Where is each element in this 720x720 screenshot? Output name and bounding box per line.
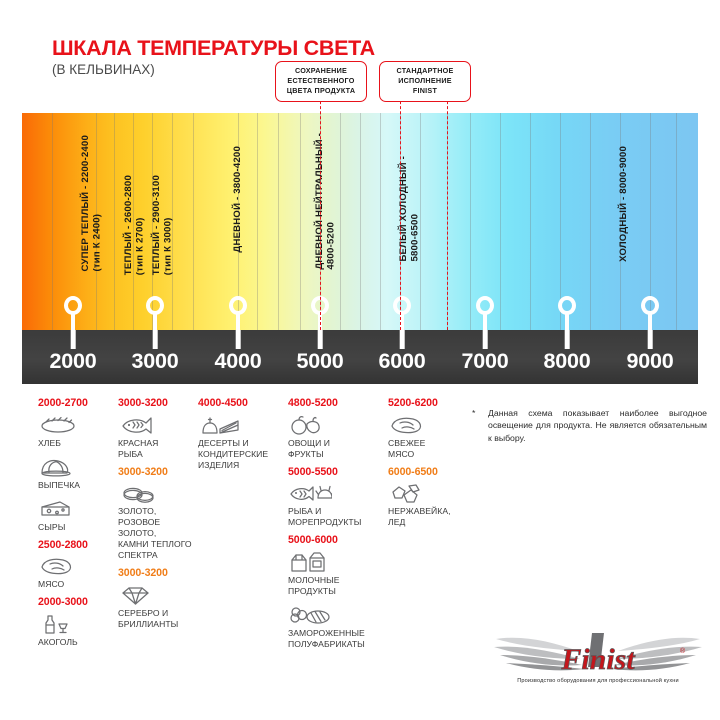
stainless-ice-icon xyxy=(388,482,432,504)
marker-ring xyxy=(229,296,247,315)
alcohol-bottle-glass-icon xyxy=(38,613,82,635)
registered-mark: ® xyxy=(680,647,686,655)
marker-ring xyxy=(476,296,494,315)
milk-cartons-icon xyxy=(288,551,386,573)
legend-group: 5200-6200 СВЕЖЕЕ МЯСО xyxy=(388,398,468,460)
fish-seafood-icon xyxy=(288,482,332,504)
band-divider xyxy=(380,113,381,330)
callout-natural-color: СОХРАНЕНИЕЕСТЕСТВЕННОГОЦВЕТА ПРОДУКТА xyxy=(275,61,367,102)
legend-group: 3000-3200 КРАСНАЯ РЫБА xyxy=(118,398,200,460)
legend-item-label: СЫРЫ xyxy=(38,522,118,533)
scale-marker-8000 xyxy=(558,296,576,330)
legend-range-label: 4000-4500 xyxy=(198,398,284,410)
legend-item-label: ЗАМОРОЖЕННЫЕ ПОЛУФАБРИКАТЫ xyxy=(288,628,386,650)
axis-tick-2000 xyxy=(71,330,76,349)
legend-item-label: РЫБА И МОРЕПРОДУКТЫ xyxy=(288,506,386,528)
axis-label-3000: 3000 xyxy=(131,349,178,374)
legend-item: МЯСО xyxy=(38,555,118,590)
legend-item: СЫРЫ xyxy=(38,498,118,533)
legend-item: РЫБА И МОРЕПРОДУКТЫ xyxy=(288,482,386,528)
legend-item-label: ВЫПЕЧКА xyxy=(38,480,118,491)
footnote-text: Данная схема показывает наиболее выгодно… xyxy=(488,407,707,444)
axis-tick-3000 xyxy=(153,330,158,349)
legend-item-label: ХЛЕБ xyxy=(38,438,118,449)
legend-item-label: ЗОЛОТО, РОЗОВОЕ ЗОЛОТО, КАМНИ ТЕПЛОГО СП… xyxy=(118,506,200,561)
band-divider xyxy=(52,113,53,330)
legend-group: 4800-5200 ОВОЩИ И ФРУКТЫ xyxy=(288,398,386,460)
color-temperature-gradient-bar: СУПЕР ТЕПЛЫЙ - 2200-2400(тип К 2400)ТЕПЛ… xyxy=(22,113,698,330)
band-label: ДНЕВНОЙ - 3800-4200 xyxy=(232,146,244,253)
callout-finist-standard: СТАНДАРТНОЕИСПОЛНЕНИЕFINIST xyxy=(379,61,471,102)
band-divider xyxy=(530,113,531,330)
legend-item: ДЕСЕРТЫ И КОНДИТЕРСКИЕ ИЗДЕЛИЯ xyxy=(198,414,284,471)
legend-item: КРАСНАЯ РЫБА xyxy=(118,414,200,460)
legend-column-2: 4000-4500 ДЕСЕРТЫ И КОНДИТЕРСКИЕ ИЗДЕЛИЯ xyxy=(198,398,284,478)
diamond-icon xyxy=(118,584,200,606)
dessert-cake-icon xyxy=(198,414,284,436)
legend-item-label: МОЛОЧНЫЕ ПРОДУКТЫ xyxy=(288,575,386,597)
legend-item-label: СВЕЖЕЕ МЯСО xyxy=(388,438,468,460)
footnote-marker: * xyxy=(472,407,475,419)
scale-marker-7000 xyxy=(476,296,494,330)
legend-item: ХЛЕБ xyxy=(38,414,118,449)
legend-range-label: 2000-3000 xyxy=(38,597,118,609)
bread-icon xyxy=(38,414,118,436)
page-title: ШКАЛА ТЕМПЕРАТУРЫ СВЕТА xyxy=(52,36,375,61)
legend-item: АКОГОЛЬ xyxy=(38,613,118,648)
legend-item-label: КРАСНАЯ РЫБА xyxy=(118,438,200,460)
band-divider xyxy=(590,113,591,330)
marker-ring xyxy=(641,296,659,315)
page-subtitle: (В КЕЛЬВИНАХ) xyxy=(52,62,155,77)
red-fish-icon xyxy=(118,414,200,436)
legend-item-label: МЯСО xyxy=(38,579,118,590)
legend-item: СЕРЕБРО И БРИЛЛИАНТЫ xyxy=(118,584,200,630)
band-divider xyxy=(257,113,258,330)
marker-ring xyxy=(64,296,82,315)
legend-column-3: 4800-5200 ОВОЩИ И ФРУКТЫ5000-5500 РЫБА И… xyxy=(288,398,386,657)
legend-item: ЗАМОРОЖЕННЫЕ ПОЛУФАБРИКАТЫ xyxy=(288,604,386,650)
legend-range-label: 5000-5500 xyxy=(288,467,386,479)
band-label: ТЕПЛЫЙ - 2900-3100(тип К 3000) xyxy=(151,175,174,275)
steak-icon xyxy=(38,555,82,577)
legend-range-label: 3000-3200 xyxy=(118,398,200,410)
legend-column-0: 2000-2700 ХЛЕБ ВЫПЕЧКА СЫРЫ2500-2800 МЯС… xyxy=(38,398,118,655)
pastry-icon xyxy=(38,456,118,478)
bread-icon xyxy=(38,414,82,436)
red-fish-icon xyxy=(118,414,162,436)
legend-item-label: АКОГОЛЬ xyxy=(38,637,118,648)
finist-logo: Finist ® Производство оборудования для п… xyxy=(492,627,704,697)
milk-cartons-icon xyxy=(288,551,332,573)
axis-tick-9000 xyxy=(648,330,653,349)
band-label: ХОЛОДНЫЙ - 8000-9000 xyxy=(618,146,630,262)
gold-rings-icon xyxy=(118,482,162,504)
cheese-icon xyxy=(38,498,118,520)
band-divider xyxy=(360,113,361,330)
band-divider xyxy=(340,113,341,330)
marker-ring xyxy=(146,296,164,315)
legend-item: НЕРЖАВЕЙКА, ЛЕД xyxy=(388,482,468,528)
band-divider xyxy=(676,113,677,330)
scale-marker-4000 xyxy=(229,296,247,330)
vegetables-fruits-icon xyxy=(288,414,386,436)
band-divider xyxy=(193,113,194,330)
legend-range-label: 3000-3200 xyxy=(118,568,200,580)
fresh-meat-icon xyxy=(388,414,468,436)
legend-range-label: 2500-2800 xyxy=(38,540,118,552)
legend-range-label: 5000-6000 xyxy=(288,535,386,547)
axis-label-9000: 9000 xyxy=(626,349,673,374)
axis-tick-7000 xyxy=(483,330,488,349)
legend-column-4: 5200-6200 СВЕЖЕЕ МЯСО6000-6500 НЕРЖАВЕЙК… xyxy=(388,398,468,535)
gold-rings-icon xyxy=(118,482,200,504)
legend-group: 2000-2700 ХЛЕБ ВЫПЕЧКА СЫРЫ xyxy=(38,398,118,533)
legend-group: 5000-5500 РЫБА И МОРЕПРОДУКТЫ xyxy=(288,467,386,529)
pastry-icon xyxy=(38,456,82,478)
axis-tick-6000 xyxy=(400,330,405,349)
finist-logo-graphic: Finist ® xyxy=(492,627,704,677)
legend-item-label: ДЕСЕРТЫ И КОНДИТЕРСКИЕ ИЗДЕЛИЯ xyxy=(198,438,284,471)
legend-item: ВЫПЕЧКА xyxy=(38,456,118,491)
steak-icon xyxy=(38,555,118,577)
frozen-food-icon xyxy=(288,604,386,626)
band-label: БЕЛЫЙ ХОЛОДНЫЙ -5800-6500 xyxy=(398,156,421,262)
footnote: * Данная схема показывает наиболее выгод… xyxy=(472,407,707,444)
legend-group: 3000-3200 СЕРЕБРО И БРИЛЛИАНТЫ xyxy=(118,568,200,630)
fresh-meat-icon xyxy=(388,414,432,436)
legend-group: 4000-4500 ДЕСЕРТЫ И КОНДИТЕРСКИЕ ИЗДЕЛИЯ xyxy=(198,398,284,471)
band-divider xyxy=(114,113,115,330)
axis-tick-4000 xyxy=(236,330,241,349)
legend-item-label: СЕРЕБРО И БРИЛЛИАНТЫ xyxy=(118,608,200,630)
scale-marker-6000 xyxy=(393,296,411,330)
band-label: ТЕПЛЫЙ - 2600-2800(тип К 2700) xyxy=(123,175,146,275)
kelvin-axis-bar: 20003000400050006000700080009000 xyxy=(22,330,698,384)
stainless-ice-icon xyxy=(388,482,468,504)
legend-group: 3000-3200 ЗОЛОТО, РОЗОВОЕ ЗОЛОТО, КАМНИ … xyxy=(118,467,200,562)
legend-range-label: 2000-2700 xyxy=(38,398,118,410)
marker-ring xyxy=(558,296,576,315)
band-label: СУПЕР ТЕПЛЫЙ - 2200-2400(тип К 2400) xyxy=(80,135,103,272)
axis-tick-5000 xyxy=(318,330,323,349)
cheese-icon xyxy=(38,498,82,520)
legend-item-label: ОВОЩИ И ФРУКТЫ xyxy=(288,438,386,460)
axis-label-4000: 4000 xyxy=(214,349,261,374)
legend-item-label: НЕРЖАВЕЙКА, ЛЕД xyxy=(388,506,468,528)
band-divider xyxy=(500,113,501,330)
diamond-icon xyxy=(118,584,162,606)
legend-group: 6000-6500 НЕРЖАВЕЙКА, ЛЕД xyxy=(388,467,468,529)
legend-item: МОЛОЧНЫЕ ПРОДУКТЫ xyxy=(288,551,386,597)
legend-item: СВЕЖЕЕ МЯСО xyxy=(388,414,468,460)
legend-range-label: 6000-6500 xyxy=(388,467,468,479)
legend-range-label: 4800-5200 xyxy=(288,398,386,410)
band-divider xyxy=(300,113,301,330)
legend-group: 2500-2800 МЯСО xyxy=(38,540,118,591)
legend-range-label: 3000-3200 xyxy=(118,467,200,479)
alcohol-bottle-glass-icon xyxy=(38,613,118,635)
scale-marker-2000 xyxy=(64,296,82,330)
legend-item: ЗОЛОТО, РОЗОВОЕ ЗОЛОТО, КАМНИ ТЕПЛОГО СП… xyxy=(118,482,200,561)
axis-label-8000: 8000 xyxy=(543,349,590,374)
logo-tagline: Производство оборудования для профессион… xyxy=(492,678,704,684)
dessert-cake-icon xyxy=(198,414,242,436)
axis-label-5000: 5000 xyxy=(296,349,343,374)
axis-tick-8000 xyxy=(565,330,570,349)
legend-range-label: 5200-6200 xyxy=(388,398,468,410)
vegetables-fruits-icon xyxy=(288,414,332,436)
fish-seafood-icon xyxy=(288,482,386,504)
legend-item: ОВОЩИ И ФРУКТЫ xyxy=(288,414,386,460)
legend-column-1: 3000-3200 КРАСНАЯ РЫБА3000-3200 ЗОЛОТО, … xyxy=(118,398,200,637)
legend-group: 2000-3000 АКОГОЛЬ xyxy=(38,597,118,648)
axis-label-7000: 7000 xyxy=(461,349,508,374)
finist-wordmark: Finist xyxy=(560,643,636,676)
marker-ring xyxy=(393,296,411,315)
band-divider xyxy=(278,113,279,330)
band-divider xyxy=(470,113,471,330)
axis-label-2000: 2000 xyxy=(49,349,96,374)
frozen-food-icon xyxy=(288,604,332,626)
band-label: ДНЕВНОЙ НЕЙТРАЛЬНЫЙ -4800-5200 xyxy=(314,133,337,270)
axis-label-6000: 6000 xyxy=(378,349,425,374)
scale-marker-3000 xyxy=(146,296,164,330)
scale-marker-9000 xyxy=(641,296,659,330)
legend-group: 5000-6000 МОЛОЧНЫЕ ПРОДУКТЫ ЗАМОРОЖЕННЫЕ… xyxy=(288,535,386,650)
